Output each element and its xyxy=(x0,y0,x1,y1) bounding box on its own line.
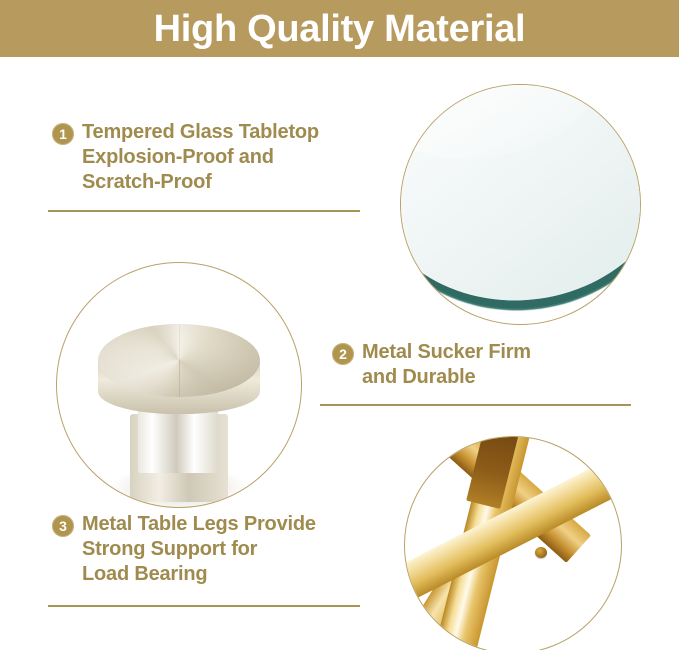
leg-screw-icon xyxy=(535,547,547,558)
feature-3-number-badge: 3 xyxy=(52,515,74,537)
metal-sucker-photo xyxy=(56,262,302,508)
feature-1-line-2: Explosion-Proof and xyxy=(82,145,319,170)
infographic-page: High Quality Material 1 Tempered Glass T… xyxy=(0,0,679,650)
glass-sheen-highlight xyxy=(400,84,601,173)
feature-1-text: Tempered Glass Tabletop Explosion-Proof … xyxy=(82,120,319,195)
feature-1-number-badge: 1 xyxy=(52,123,74,145)
feature-3-text: Metal Table Legs Provide Strong Support … xyxy=(82,512,316,587)
feature-3-line-1: Metal Table Legs Provide xyxy=(82,512,316,537)
feature-3-heading: 3 Metal Table Legs Provide Strong Suppor… xyxy=(52,512,316,587)
feature-2-divider xyxy=(320,404,631,406)
feature-2-number-badge: 2 xyxy=(332,343,354,365)
glass-photo-inner xyxy=(401,85,640,324)
sucker-photo-inner xyxy=(57,263,301,507)
feature-2-line-1: Metal Sucker Firm xyxy=(362,340,531,365)
glass-disc xyxy=(400,84,641,321)
feature-3-divider xyxy=(48,605,360,607)
sucker-brushed-sheen xyxy=(98,324,259,397)
feature-2-text-block: 2 Metal Sucker Firm and Durable xyxy=(332,340,531,390)
page-title: High Quality Material xyxy=(154,10,526,48)
feature-2-heading: 2 Metal Sucker Firm and Durable xyxy=(332,340,531,390)
legs-photo-inner xyxy=(405,437,621,650)
feature-1-text-block: 1 Tempered Glass Tabletop Explosion-Proo… xyxy=(52,120,319,195)
feature-3-line-2: Strong Support for xyxy=(82,537,316,562)
feature-2-line-2: and Durable xyxy=(362,365,531,390)
metal-table-legs-photo xyxy=(404,436,622,650)
feature-1-divider xyxy=(48,210,360,212)
feature-1-line-1: Tempered Glass Tabletop xyxy=(82,120,319,145)
tempered-glass-tabletop-photo xyxy=(400,84,641,325)
feature-2-text: Metal Sucker Firm and Durable xyxy=(362,340,531,390)
feature-3-line-3: Load Bearing xyxy=(82,562,316,587)
feature-1-heading: 1 Tempered Glass Tabletop Explosion-Proo… xyxy=(52,120,319,195)
feature-3-text-block: 3 Metal Table Legs Provide Strong Suppor… xyxy=(52,512,316,587)
header-banner: High Quality Material xyxy=(0,0,679,57)
feature-1-line-3: Scratch-Proof xyxy=(82,170,319,195)
